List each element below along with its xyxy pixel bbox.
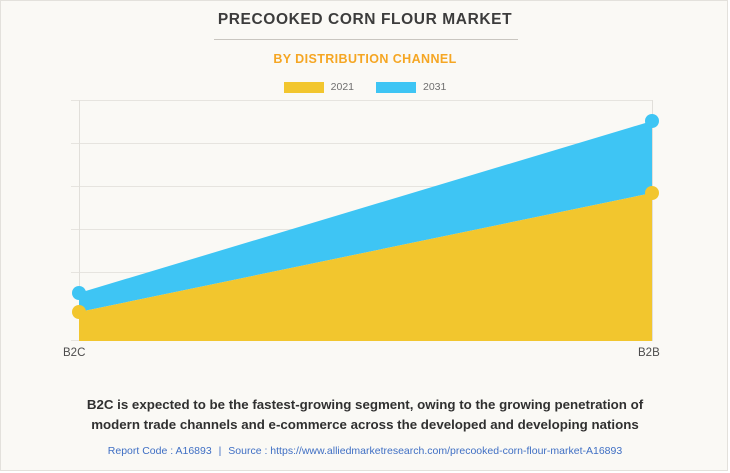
chart-caption: B2C is expected to be the fastest-growin… [25, 395, 705, 435]
page-title: PRECOOKED CORN FLOUR MARKET [1, 11, 728, 29]
legend-item-2021[interactable]: 2021 [284, 81, 354, 93]
footer-separator: | [215, 445, 226, 457]
legend-swatch-2031 [376, 82, 416, 93]
source-link[interactable]: Source : https://www.alliedmarketresearc… [228, 445, 622, 457]
title-divider [214, 39, 518, 40]
caption-line-1: B2C is expected to be the fastest-growin… [25, 395, 705, 415]
plot-area [71, 100, 653, 341]
datapoint-2021-b2b[interactable] [645, 186, 659, 200]
legend-item-2031[interactable]: 2031 [376, 81, 446, 93]
x-axis-label-b2c: B2C [63, 347, 85, 359]
chart-legend: 2021 2031 [1, 81, 728, 93]
datapoint-2031-b2b[interactable] [645, 114, 659, 128]
caption-line-2: modern trade channels and e-commerce acr… [25, 415, 705, 435]
legend-label-2031: 2031 [423, 81, 446, 93]
datapoint-2021-b2c[interactable] [72, 305, 86, 319]
chart-subtitle: BY DISTRIBUTION CHANNEL [1, 52, 728, 66]
datapoint-2031-b2c[interactable] [72, 286, 86, 300]
chart-card: PRECOOKED CORN FLOUR MARKET BY DISTRIBUT… [0, 0, 728, 471]
x-axis-label-b2b: B2B [638, 347, 660, 359]
area-chart-svg [71, 100, 653, 341]
legend-label-2021: 2021 [331, 81, 354, 93]
legend-swatch-2021 [284, 82, 324, 93]
report-code: Report Code : A16893 [108, 445, 212, 457]
chart-footer: Report Code : A16893 | Source : https://… [1, 445, 728, 457]
